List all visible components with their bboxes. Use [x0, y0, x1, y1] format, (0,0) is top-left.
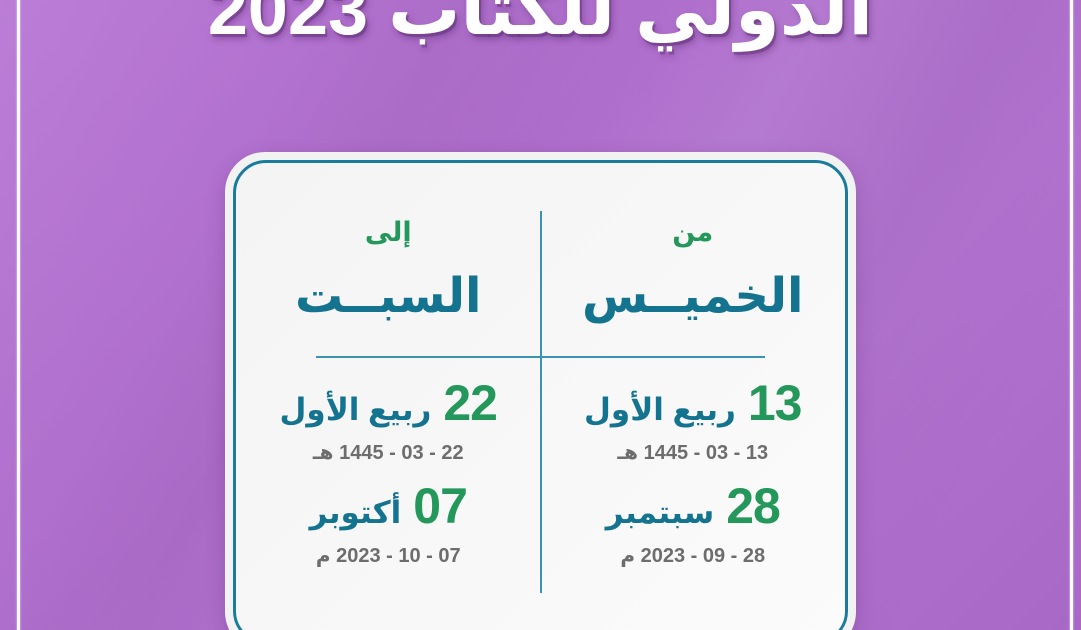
gregorian-numeric-from: 28 - 09 - 2023 م — [541, 543, 846, 568]
left-edge-rail — [17, 0, 20, 630]
hijri-day-number-from: 13 — [748, 378, 802, 428]
gregorian-date-from: 28 سبتمبر 28 - 09 - 2023 م — [541, 481, 846, 568]
hijri-day-number-to: 22 — [443, 378, 497, 428]
column-label-to: إلى — [236, 219, 541, 246]
column-from: من الخميــس 13 ربيع الأول 13 - 03 - 1445… — [541, 163, 846, 630]
hijri-date-to: 22 ربيع الأول 22 - 03 - 1445 هـ — [236, 378, 541, 465]
gregorian-day-number-to: 07 — [413, 481, 467, 531]
gregorian-numeric-to: 07 - 10 - 2023 م — [236, 543, 541, 568]
gregorian-main-from: 28 سبتمبر — [541, 481, 846, 531]
hijri-date-from: 13 ربيع الأول 13 - 03 - 1445 هـ — [541, 378, 846, 465]
right-edge-rail — [1070, 0, 1073, 630]
gregorian-day-number-from: 28 — [726, 481, 780, 531]
hijri-month-name-from: ربيع الأول — [584, 394, 736, 425]
hijri-main-from: 13 ربيع الأول — [541, 378, 846, 428]
date-columns: من الخميــس 13 ربيع الأول 13 - 03 - 1445… — [236, 163, 845, 630]
poster-canvas: الدولي للكتاب 2023 من الخميــس 13 ربيع ا… — [0, 0, 1081, 630]
gregorian-date-to: 07 أكتوبر 07 - 10 - 2023 م — [236, 481, 541, 568]
column-to: إلى السبــت 22 ربيع الأول 22 - 03 - 1445… — [236, 163, 541, 630]
day-name-to: السبــت — [236, 271, 541, 324]
hijri-month-name-to: ربيع الأول — [280, 394, 432, 425]
page-title: الدولي للكتاب 2023 — [0, 0, 1081, 46]
day-name-from: الخميــس — [541, 271, 846, 324]
column-label-from: من — [541, 219, 846, 246]
date-card: من الخميــس 13 ربيع الأول 13 - 03 - 1445… — [225, 152, 856, 630]
date-card-inner: من الخميــس 13 ربيع الأول 13 - 03 - 1445… — [233, 160, 848, 630]
hijri-numeric-to: 22 - 03 - 1445 هـ — [236, 440, 541, 465]
gregorian-month-name-from: سبتمبر — [606, 497, 715, 528]
hijri-numeric-from: 13 - 03 - 1445 هـ — [541, 440, 846, 465]
gregorian-month-name-to: أكتوبر — [310, 497, 402, 528]
gregorian-main-to: 07 أكتوبر — [236, 481, 541, 531]
hijri-main-to: 22 ربيع الأول — [236, 378, 541, 428]
